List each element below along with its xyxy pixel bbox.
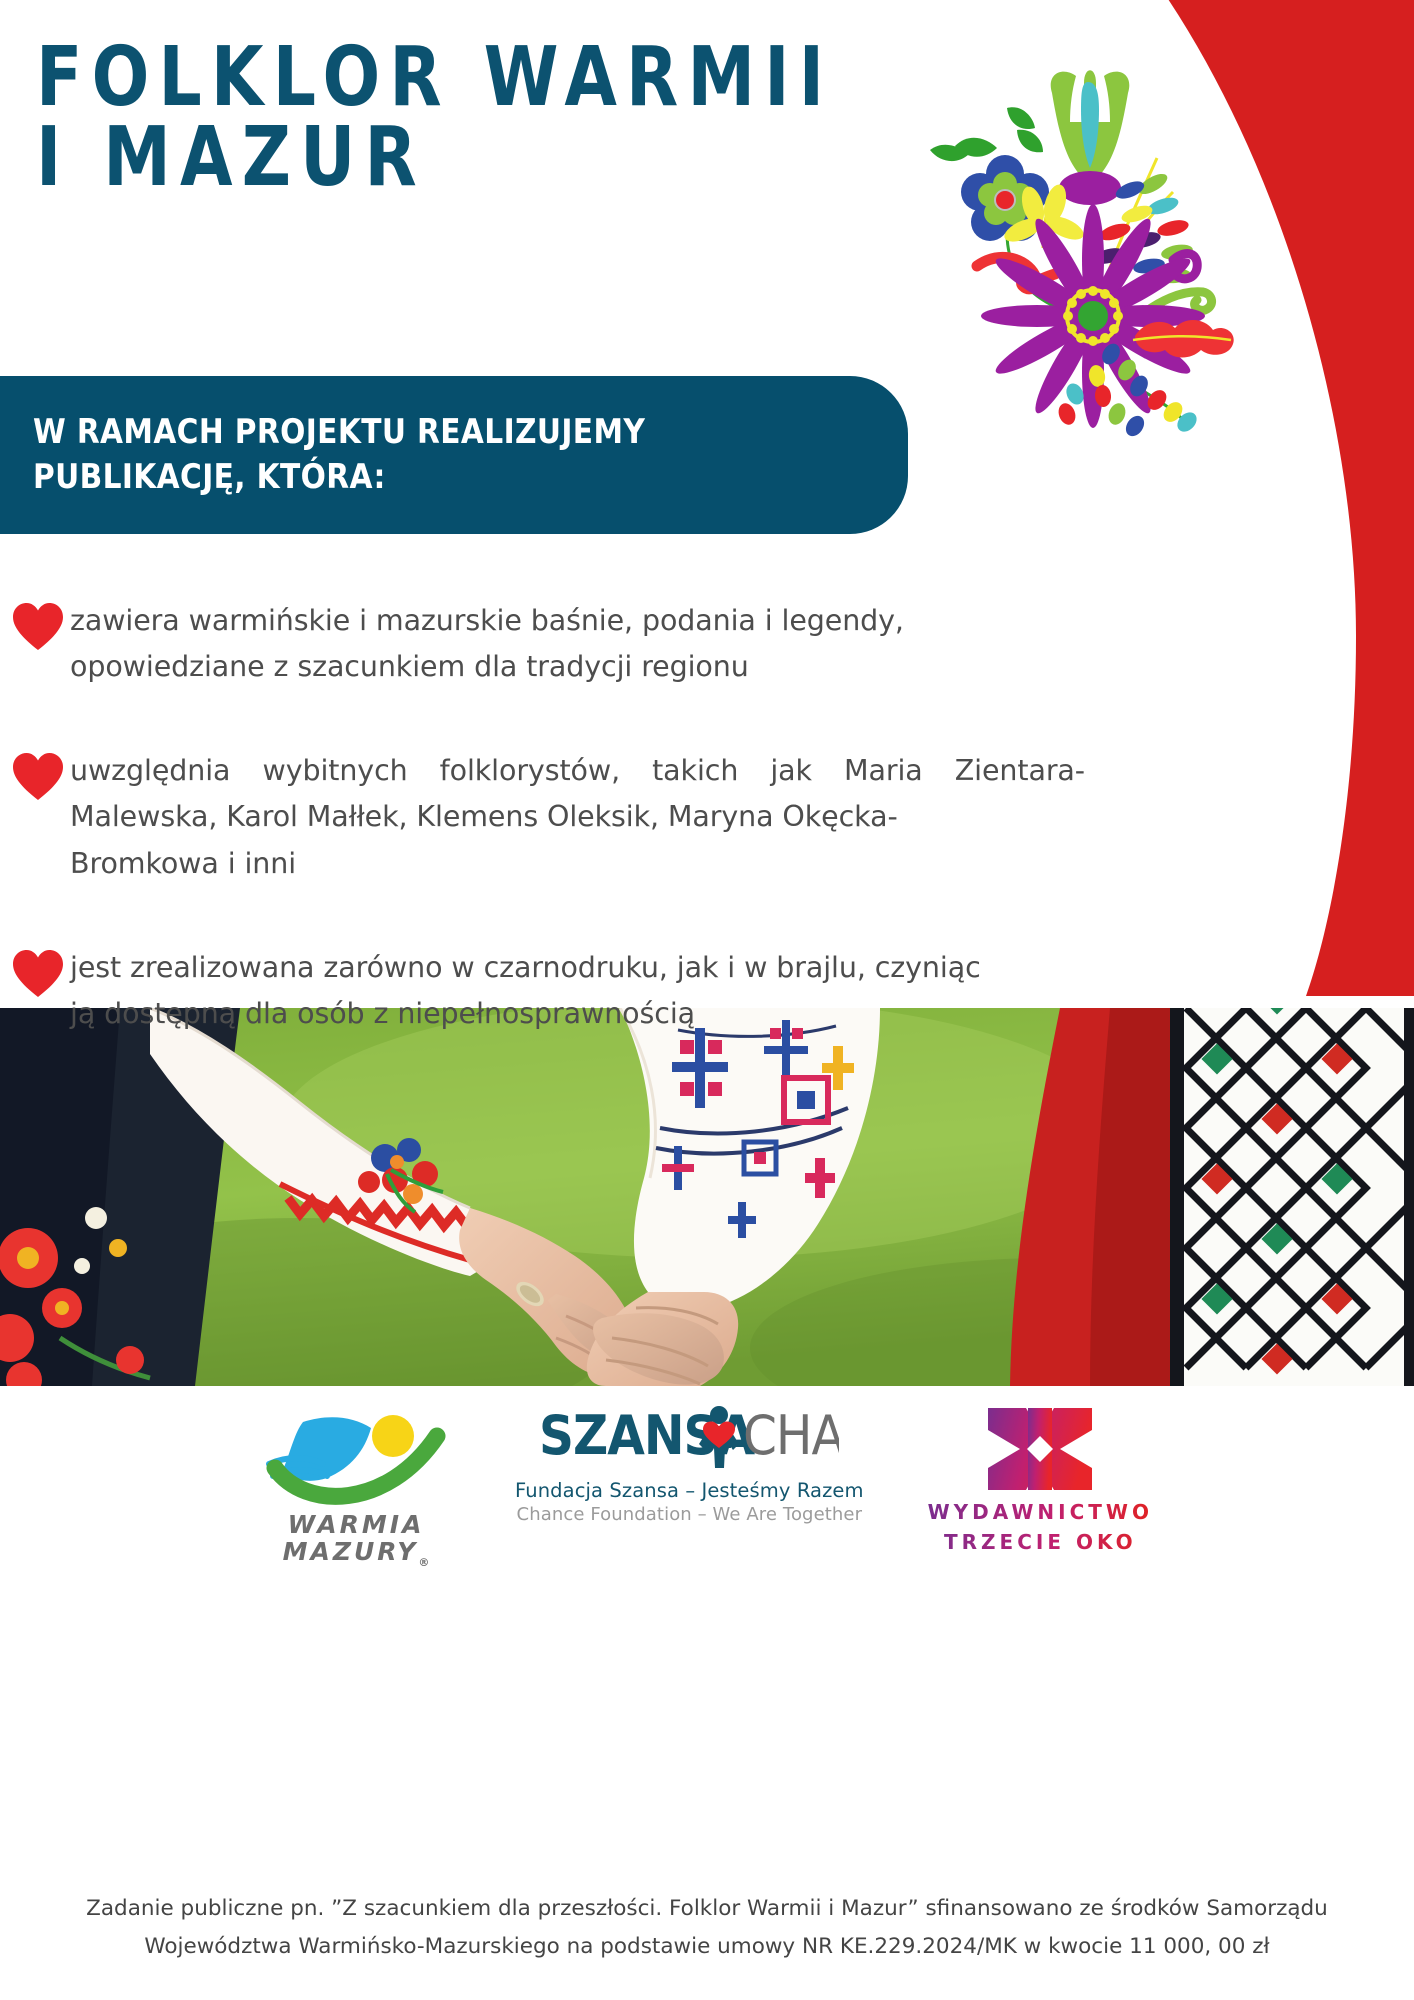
project-banner-text: W RAMACH PROJEKTU REALIZUJEMY PUBLIKACJĘ… [0, 410, 645, 500]
list-item-text-last: Bromkowa i inni [70, 841, 1085, 887]
list-item: zawiera warmińskie i mazurskie baśnie, p… [10, 598, 1085, 690]
funding-footer-line2: Województwa Warmińsko-Mazurskiego na pod… [60, 1928, 1354, 1966]
list-item-text-main: uwzględnia wybitnych folklorystów, takic… [70, 754, 1085, 833]
folk-costume-photo [0, 1008, 1414, 1386]
list-item-text-main: jest zrealizowana zarówno w czarnodruku,… [70, 951, 981, 984]
bullet-list: zawiera warmińskie i mazurskie baśnie, p… [10, 598, 1085, 1037]
list-item-text: jest zrealizowana zarówno w czarnodruku,… [70, 945, 1085, 1037]
registered-trademark-icon: ® [418, 1556, 429, 1569]
szansa-chance-logo: SZANSA CHANCE Fundacja Szansa – Jesteśmy… [515, 1406, 864, 1525]
logo-strip: WARMIA MAZURY® SZANSA CHANCE Fundacja Sz… [0, 1392, 1414, 1572]
warmia-mazury-logo: WARMIA MAZURY® [261, 1406, 451, 1569]
szansa-chance-mark: SZANSA CHANCE [539, 1406, 839, 1472]
list-item-text-main: zawiera warmińskie i mazurskie baśnie, p… [70, 604, 904, 637]
heart-icon [10, 947, 66, 1003]
warmia-mazury-mark [261, 1406, 451, 1508]
chance-word: CHANCE [743, 1406, 839, 1467]
trzecie-oko-line1: WYDAWNICTWO [928, 1497, 1153, 1527]
trzecie-oko-line2: TRZECIE OKO [928, 1527, 1153, 1557]
list-item: jest zrealizowana zarówno w czarnodruku,… [10, 945, 1085, 1037]
szansa-subtitle-en: Chance Foundation – We Are Together [515, 1504, 864, 1525]
list-item-text: zawiera warmińskie i mazurskie baśnie, p… [70, 598, 1085, 690]
list-item-text-last: ją dostępną dla osób z niepełnosprawnośc… [70, 991, 1085, 1037]
project-banner: W RAMACH PROJEKTU REALIZUJEMY PUBLIKACJĘ… [0, 376, 908, 534]
warmia-mazury-line1: WARMIA [261, 1511, 451, 1540]
list-item: uwzględnia wybitnych folklorystów, takic… [10, 748, 1085, 886]
page-title: FOLKLOR WARMII I MAZUR [36, 38, 833, 199]
warmia-mazury-line2: MAZURY® [261, 1538, 451, 1570]
funding-footer: Zadanie publiczne pn. ”Z szacunkiem dla … [0, 1890, 1414, 1965]
list-item-text: uwzględnia wybitnych folklorystów, takic… [70, 748, 1085, 886]
heart-icon [10, 600, 66, 656]
list-item-text-last: opowiedziane z szacunkiem dla tradycji r… [70, 644, 1085, 690]
funding-footer-line1: Zadanie publiczne pn. ”Z szacunkiem dla … [60, 1890, 1354, 1928]
szansa-subtitle-pl: Fundacja Szansa – Jesteśmy Razem [515, 1479, 864, 1502]
folk-floral-motif [925, 28, 1255, 448]
wydawnictwo-trzecie-oko-logo: WYDAWNICTWO TRZECIE OKO [928, 1406, 1153, 1557]
trzecie-oko-mark [982, 1406, 1098, 1492]
heart-icon [10, 750, 66, 806]
